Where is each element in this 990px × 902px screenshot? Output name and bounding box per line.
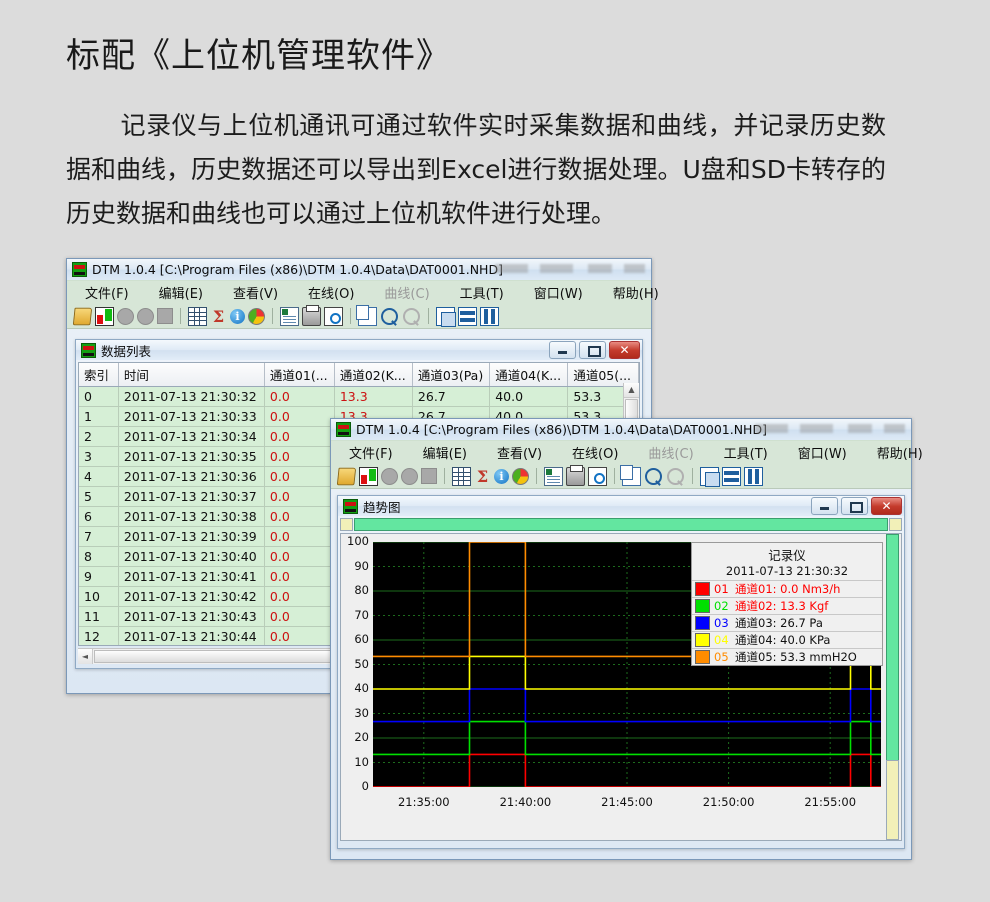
column-header-0[interactable]: 索引 (79, 363, 118, 387)
cell-r12-c1: 2011-07-13 21:30:44 (118, 627, 264, 647)
cell-r2-c1: 2011-07-13 21:30:34 (118, 427, 264, 447)
page-description: 记录仪与上位机通讯可通过软件实时采集数据和曲线，并记录历史数据和曲线，历史数据还… (66, 104, 886, 236)
cell-r2-c2: 0.0 (264, 427, 334, 447)
record-stop-icon (157, 308, 173, 324)
data-list-icon (81, 343, 96, 358)
window1-titlebar[interactable]: DTM 1.0.4 [C:\Program Files (x86)\DTM 1.… (67, 259, 651, 280)
legend-channel-value-05: 通道05: 53.3 mmH2O (735, 649, 857, 665)
x-tick-2: 21:45:00 (592, 795, 662, 809)
scroll-up-arrow[interactable]: ▲ (624, 383, 639, 398)
cell-r9-c1: 2011-07-13 21:30:41 (118, 567, 264, 587)
open-file-icon[interactable] (337, 467, 356, 484)
cell-r0-c4: 26.7 (412, 387, 489, 407)
legend-channel-number-05: 05 (714, 650, 731, 664)
record-pause-icon (137, 308, 154, 325)
tile-vertical-icon[interactable] (744, 467, 763, 486)
restore-icon (850, 502, 863, 513)
window2-menubar[interactable]: 文件(F)编辑(E)查看(V)在线(O)曲线(C)工具(T)窗口(W)帮助(H) (331, 440, 911, 464)
y-tick-80: 80 (341, 583, 369, 597)
minimize-button[interactable] (811, 497, 838, 515)
window2-titlebar[interactable]: DTM 1.0.4 [C:\Program Files (x86)\DTM 1.… (331, 419, 911, 440)
record-start-icon (117, 308, 134, 325)
cell-r1-c2: 0.0 (264, 407, 334, 427)
toolbar-separator (350, 308, 351, 324)
menu-item-c: 曲线(C) (648, 443, 693, 462)
cell-r5-c2: 0.0 (264, 487, 334, 507)
menu-item-f[interactable]: 文件(F) (349, 443, 393, 462)
app-icon (72, 262, 87, 277)
menu-item-o[interactable]: 在线(O) (308, 283, 354, 302)
menu-item-w[interactable]: 窗口(W) (534, 283, 583, 302)
legend-channel-number-03: 03 (714, 616, 731, 630)
cell-r5-c0: 5 (79, 487, 118, 507)
cell-r6-c1: 2011-07-13 21:30:38 (118, 507, 264, 527)
cell-r10-c0: 10 (79, 587, 118, 607)
column-header-2[interactable]: 通道01(... (264, 363, 334, 387)
cell-r3-c1: 2011-07-13 21:30:35 (118, 447, 264, 467)
page-title: 标配《上位机管理软件》 (66, 28, 451, 77)
menu-item-v[interactable]: 查看(V) (233, 283, 278, 302)
cell-r1-c0: 1 (79, 407, 118, 427)
cell-r9-c0: 9 (79, 567, 118, 587)
menu-item-t[interactable]: 工具(T) (724, 443, 768, 462)
cell-r0-c1: 2011-07-13 21:30:32 (118, 387, 264, 407)
cell-r5-c1: 2011-07-13 21:30:37 (118, 487, 264, 507)
trend-chart-icon[interactable] (359, 467, 378, 486)
scroll-left-arrow[interactable]: ◄ (78, 649, 93, 664)
menu-item-e[interactable]: 编辑(E) (159, 283, 203, 302)
trend-title: 趋势图 (363, 497, 806, 516)
statistics-sigma-icon[interactable]: Σ (474, 468, 491, 485)
toolbar-separator (614, 468, 615, 484)
data-list-window-buttons[interactable]: ✕ (549, 341, 640, 359)
cell-r6-c0: 6 (79, 507, 118, 527)
cell-r8-c0: 8 (79, 547, 118, 567)
x-tick-1: 21:40:00 (490, 795, 560, 809)
cascade-windows-icon[interactable] (436, 307, 455, 326)
toolbar-separator (428, 308, 429, 324)
window2-title-blurred-controls (755, 424, 905, 433)
cell-r7-c0: 7 (79, 527, 118, 547)
y-tick-10: 10 (341, 755, 369, 769)
export-excel-icon[interactable] (280, 307, 299, 326)
cell-r7-c1: 2011-07-13 21:30:39 (118, 527, 264, 547)
legend-timestamp: 2011-07-13 21:30:32 (692, 564, 882, 580)
app-icon (336, 422, 351, 437)
pie-chart-icon[interactable] (512, 468, 529, 485)
trend-icon (343, 499, 358, 514)
legend-title: 记录仪 (692, 543, 882, 564)
window1-menubar[interactable]: 文件(F)编辑(E)查看(V)在线(O)曲线(C)工具(T)窗口(W)帮助(H) (67, 280, 651, 304)
y-tick-100: 100 (341, 534, 369, 548)
legend-row-04[interactable]: 04通道04: 40.0 KPa (692, 631, 882, 648)
column-header-5[interactable]: 通道04(K... (490, 363, 568, 387)
x-tick-3: 21:50:00 (694, 795, 764, 809)
legend-row-03[interactable]: 03通道03: 26.7 Pa (692, 614, 882, 631)
cell-r1-c1: 2011-07-13 21:30:33 (118, 407, 264, 427)
cell-r10-c1: 2011-07-13 21:30:42 (118, 587, 264, 607)
menu-item-c: 曲线(C) (384, 283, 429, 302)
export-excel-icon[interactable] (544, 467, 563, 486)
chart-legend[interactable]: 记录仪 2011-07-13 21:30:32 01通道01: 0.0 Nm3/… (691, 542, 883, 666)
cell-r7-c2: 0.0 (264, 527, 334, 547)
cell-r4-c0: 4 (79, 467, 118, 487)
data-table-icon[interactable] (188, 307, 207, 326)
zoom-in-icon[interactable] (381, 308, 398, 325)
close-icon: ✕ (610, 342, 639, 358)
window1-toolbar[interactable]: Σi (67, 304, 651, 329)
zoom-in-icon[interactable] (645, 468, 662, 485)
restore-icon (588, 346, 601, 357)
restore-button[interactable] (841, 497, 868, 515)
legend-row-02[interactable]: 02通道02: 13.3 Kgf (692, 597, 882, 614)
y-tick-90: 90 (341, 559, 369, 573)
trend-time-range-scrollbar[interactable] (340, 518, 902, 531)
cell-r11-c1: 2011-07-13 21:30:43 (118, 607, 264, 627)
info-icon[interactable]: i (494, 469, 509, 484)
trend-plot-panel[interactable]: 0102030405060708090100 21:35:0021:40:002… (340, 533, 902, 841)
x-tick-0: 21:35:00 (389, 795, 459, 809)
column-header-1[interactable]: 时间 (118, 363, 264, 387)
child-window-trend[interactable]: 趋势图 ✕ 0102030405060708090100 21:35:0021:… (337, 495, 905, 849)
dtm-window-trend[interactable]: DTM 1.0.4 [C:\Program Files (x86)\DTM 1.… (330, 418, 912, 860)
table-header-row: 索引时间通道01(...通道02(K...通道03(Pa)通道04(K...通道… (79, 363, 639, 387)
data-list-titlebar[interactable]: 数据列表 ✕ (76, 340, 642, 360)
y-tick-30: 30 (341, 706, 369, 720)
open-file-icon[interactable] (73, 307, 92, 324)
y-tick-70: 70 (341, 608, 369, 622)
cell-r6-c2: 0.0 (264, 507, 334, 527)
toolbar-separator (272, 308, 273, 324)
table-row[interactable]: 02011-07-13 21:30:320.013.326.740.053.3 (79, 387, 639, 407)
trend-window-buttons[interactable]: ✕ (811, 497, 902, 515)
menu-item-w[interactable]: 窗口(W) (798, 443, 847, 462)
record-pause-icon (401, 468, 418, 485)
cell-r2-c0: 2 (79, 427, 118, 447)
menu-item-t[interactable]: 工具(T) (460, 283, 504, 302)
print-preview-icon[interactable] (324, 307, 343, 326)
menu-item-f[interactable]: 文件(F) (85, 283, 129, 302)
cell-r11-c2: 0.0 (264, 607, 334, 627)
print-icon[interactable] (566, 467, 585, 486)
print-icon[interactable] (302, 307, 321, 326)
cell-r11-c0: 11 (79, 607, 118, 627)
legend-channel-value-01: 通道01: 0.0 Nm3/h (735, 581, 840, 597)
tile-horizontal-icon[interactable] (722, 467, 741, 486)
cell-r0-c3: 13.3 (334, 387, 412, 407)
close-button[interactable]: ✕ (609, 341, 640, 359)
pie-chart-icon[interactable] (248, 308, 265, 325)
y-tick-40: 40 (341, 681, 369, 695)
copy-icon[interactable] (358, 307, 377, 326)
restore-button[interactable] (579, 341, 606, 359)
column-header-3[interactable]: 通道02(K... (334, 363, 412, 387)
y-tick-60: 60 (341, 632, 369, 646)
y-tick-0: 0 (341, 779, 369, 793)
close-icon: ✕ (872, 498, 901, 514)
legend-rows: 01通道01: 0.0 Nm3/h02通道02: 13.3 Kgf03通道03:… (692, 580, 882, 665)
print-preview-icon[interactable] (588, 467, 607, 486)
cell-r8-c2: 0.0 (264, 547, 334, 567)
close-button[interactable]: ✕ (871, 497, 902, 515)
x-tick-4: 21:55:00 (795, 795, 865, 809)
toolbar-separator (692, 468, 693, 484)
cell-r4-c1: 2011-07-13 21:30:36 (118, 467, 264, 487)
minimize-icon (558, 351, 567, 354)
menu-item-o[interactable]: 在线(O) (572, 443, 618, 462)
cascade-windows-icon[interactable] (700, 467, 719, 486)
legend-color-swatch-02 (695, 599, 710, 613)
statistics-sigma-icon[interactable]: Σ (210, 308, 227, 325)
tile-vertical-icon[interactable] (480, 307, 499, 326)
legend-color-swatch-04 (695, 633, 710, 647)
tile-horizontal-icon[interactable] (458, 307, 477, 326)
legend-channel-value-02: 通道02: 13.3 Kgf (735, 598, 828, 614)
range-handle-right[interactable] (889, 518, 902, 531)
toolbar-separator (180, 308, 181, 324)
minimize-icon (820, 507, 829, 510)
cell-r0-c2: 0.0 (264, 387, 334, 407)
trend-chart-icon[interactable] (95, 307, 114, 326)
legend-color-swatch-05 (695, 650, 710, 664)
menu-item-h[interactable]: 帮助(H) (613, 283, 659, 302)
legend-channel-number-04: 04 (714, 633, 731, 647)
legend-row-01[interactable]: 01通道01: 0.0 Nm3/h (692, 580, 882, 597)
cell-r3-c2: 0.0 (264, 447, 334, 467)
vscroll-thumb-green[interactable] (886, 534, 899, 762)
trend-titlebar[interactable]: 趋势图 ✕ (338, 496, 904, 516)
menu-item-v[interactable]: 查看(V) (497, 443, 542, 462)
zoom-out-icon (403, 308, 420, 325)
legend-channel-value-04: 通道04: 40.0 KPa (735, 632, 830, 648)
cell-r0-c5: 40.0 (490, 387, 568, 407)
window1-title: DTM 1.0.4 [C:\Program Files (x86)\DTM 1.… (87, 262, 503, 277)
cell-r8-c1: 2011-07-13 21:30:40 (118, 547, 264, 567)
info-icon[interactable]: i (230, 309, 245, 324)
cell-r12-c2: 0.0 (264, 627, 334, 647)
legend-channel-number-02: 02 (714, 599, 731, 613)
legend-channel-number-01: 01 (714, 582, 731, 596)
paragraph-text: 记录仪与上位机通讯可通过软件实时采集数据和曲线，并记录历史数据和曲线，历史数据还… (66, 111, 886, 228)
range-handle-left[interactable] (340, 518, 353, 531)
cell-r4-c2: 0.0 (264, 467, 334, 487)
window1-title-blurred-controls (495, 264, 645, 273)
zoom-out-icon (667, 468, 684, 485)
cell-r3-c0: 3 (79, 447, 118, 467)
y-tick-50: 50 (341, 657, 369, 671)
record-start-icon (381, 468, 398, 485)
menu-item-h[interactable]: 帮助(H) (877, 443, 923, 462)
y-tick-20: 20 (341, 730, 369, 744)
legend-row-05[interactable]: 05通道05: 53.3 mmH2O (692, 648, 882, 665)
menu-item-e[interactable]: 编辑(E) (423, 443, 467, 462)
data-list-title: 数据列表 (101, 341, 544, 360)
legend-channel-value-03: 通道03: 26.7 Pa (735, 615, 823, 631)
cell-r12-c0: 12 (79, 627, 118, 647)
window2-toolbar[interactable]: Σi (331, 464, 911, 489)
data-table-icon[interactable] (452, 467, 471, 486)
toolbar-separator (536, 468, 537, 484)
trend-vertical-scrollbar[interactable] (886, 534, 899, 840)
cell-r0-c0: 0 (79, 387, 118, 407)
column-header-4[interactable]: 通道03(Pa) (412, 363, 489, 387)
record-stop-icon (421, 468, 437, 484)
cell-r9-c2: 0.0 (264, 567, 334, 587)
legend-color-swatch-01 (695, 582, 710, 596)
window2-title: DTM 1.0.4 [C:\Program Files (x86)\DTM 1.… (351, 422, 767, 437)
copy-icon[interactable] (622, 467, 641, 486)
range-track[interactable] (354, 518, 888, 531)
toolbar-separator (444, 468, 445, 484)
minimize-button[interactable] (549, 341, 576, 359)
vscroll-thumb-yellow[interactable] (886, 760, 899, 840)
cell-r10-c2: 0.0 (264, 587, 334, 607)
legend-color-swatch-03 (695, 616, 710, 630)
